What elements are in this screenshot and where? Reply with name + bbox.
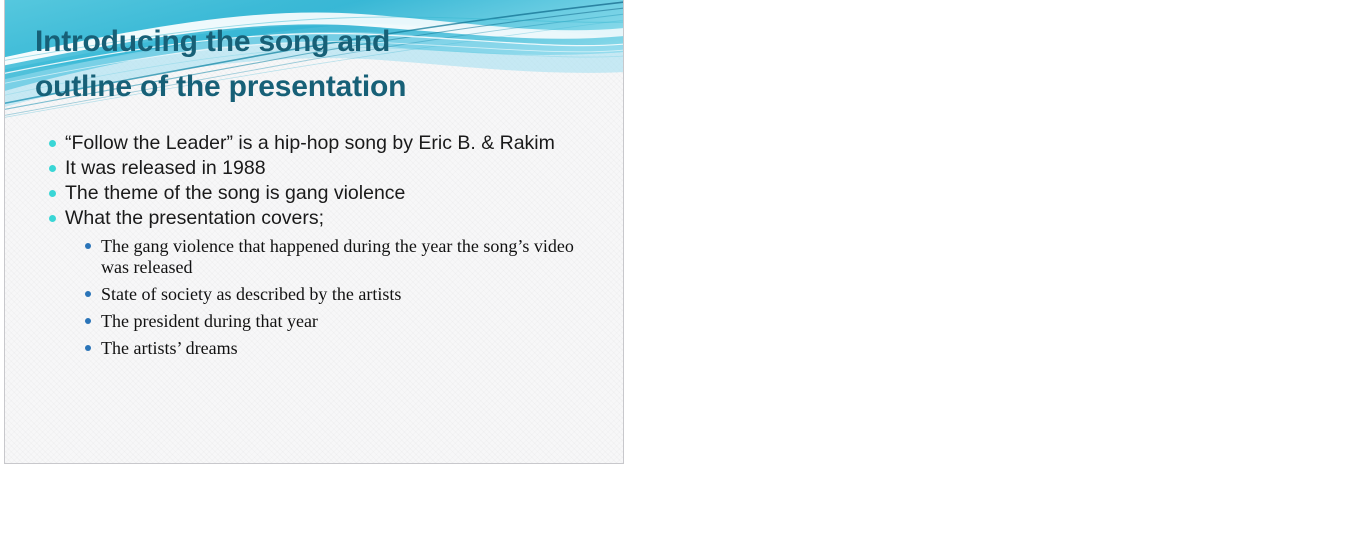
list-item: The artists’ dreams (75, 338, 605, 359)
list-item: The theme of the song is gang violence (35, 181, 605, 205)
bullet-list-level-2: The gang violence that happened during t… (75, 236, 605, 359)
slide-title-line-2: outline of the presentation (35, 64, 595, 109)
presentation-canvas: Introducing the song and outline of the … (0, 0, 1360, 550)
list-item: It was released in 1988 (35, 156, 605, 180)
slide-title: Introducing the song and outline of the … (35, 19, 595, 109)
list-item: The president during that year (75, 311, 605, 332)
sub-bullet-text: State of society as described by the art… (101, 284, 401, 304)
round-bullet-icon (85, 345, 91, 351)
bullet-text: “Follow the Leader” is a hip-hop song by… (65, 132, 555, 154)
list-item: “Follow the Leader” is a hip-hop song by… (35, 131, 605, 155)
round-bullet-icon (85, 318, 91, 324)
sub-bullet-text: The artists’ dreams (101, 338, 238, 358)
bullet-text: What the presentation covers; (65, 207, 324, 229)
bullet-text: It was released in 1988 (65, 157, 266, 179)
round-bullet-icon (49, 165, 56, 172)
list-item: The gang violence that happened during t… (75, 236, 605, 278)
bullet-list-level-1: “Follow the Leader” is a hip-hop song by… (35, 131, 605, 359)
slide-title-line-1: Introducing the song and (35, 19, 595, 64)
sub-bullet-text: The gang violence that happened during t… (101, 236, 574, 277)
round-bullet-icon (85, 291, 91, 297)
sub-bullet-wrapper: The gang violence that happened during t… (75, 236, 605, 359)
round-bullet-icon (49, 215, 56, 222)
list-item: What the presentation covers; The gang v… (35, 206, 605, 359)
sub-bullet-text: The president during that year (101, 311, 318, 331)
list-item: State of society as described by the art… (75, 284, 605, 305)
bullet-text: The theme of the song is gang violence (65, 182, 405, 204)
round-bullet-icon (85, 243, 91, 249)
round-bullet-icon (49, 140, 56, 147)
round-bullet-icon (49, 190, 56, 197)
slide[interactable]: Introducing the song and outline of the … (4, 0, 624, 464)
slide-body: “Follow the Leader” is a hip-hop song by… (35, 131, 605, 365)
